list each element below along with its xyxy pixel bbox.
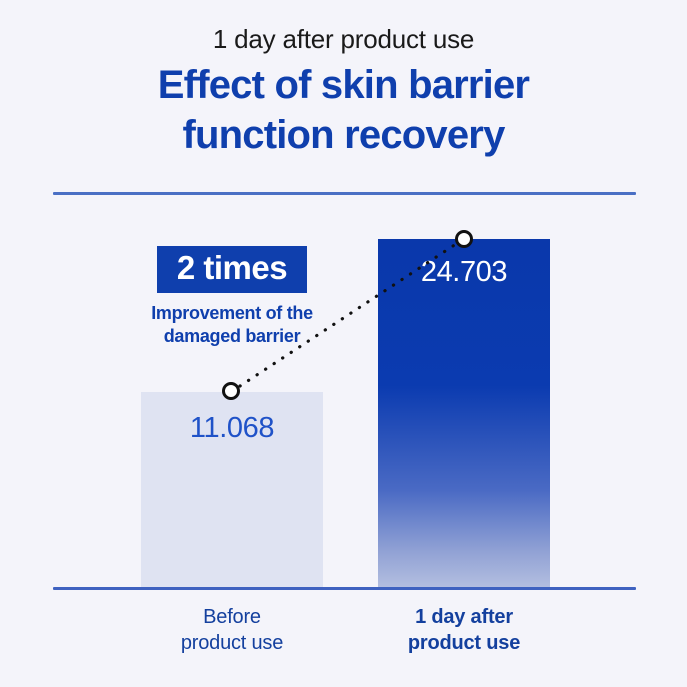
x-axis-label-after-line-2: product use (372, 630, 556, 656)
x-axis-label-before-line-1: Before (141, 604, 323, 630)
bar-1-day-after-product-use (378, 239, 550, 588)
x-axis-label-after: 1 day after product use (372, 604, 556, 656)
bar-value-before: 11.068 (141, 412, 323, 445)
infographic-root: 1 day after product use Effect of skin b… (0, 0, 687, 687)
data-point-marker-before (222, 382, 240, 400)
x-axis-line (53, 587, 636, 590)
x-axis-label-after-line-1: 1 day after (372, 604, 556, 630)
callout-caption-line-2: damaged barrier (141, 325, 323, 348)
callout-caption: Improvement of the damaged barrier (141, 302, 323, 348)
bar-value-after: 24.703 (378, 256, 550, 289)
multiplier-badge: 2 times (157, 246, 307, 293)
bar-chart: 11.068 24.703 2 times Improvement of the… (0, 0, 687, 687)
x-axis-label-before-line-2: product use (141, 630, 323, 656)
improvement-callout: 2 times Improvement of the damaged barri… (141, 246, 323, 348)
data-point-marker-after (455, 230, 473, 248)
callout-caption-line-1: Improvement of the (141, 302, 323, 325)
connector-line (0, 0, 687, 687)
x-axis-label-before: Before product use (141, 604, 323, 656)
